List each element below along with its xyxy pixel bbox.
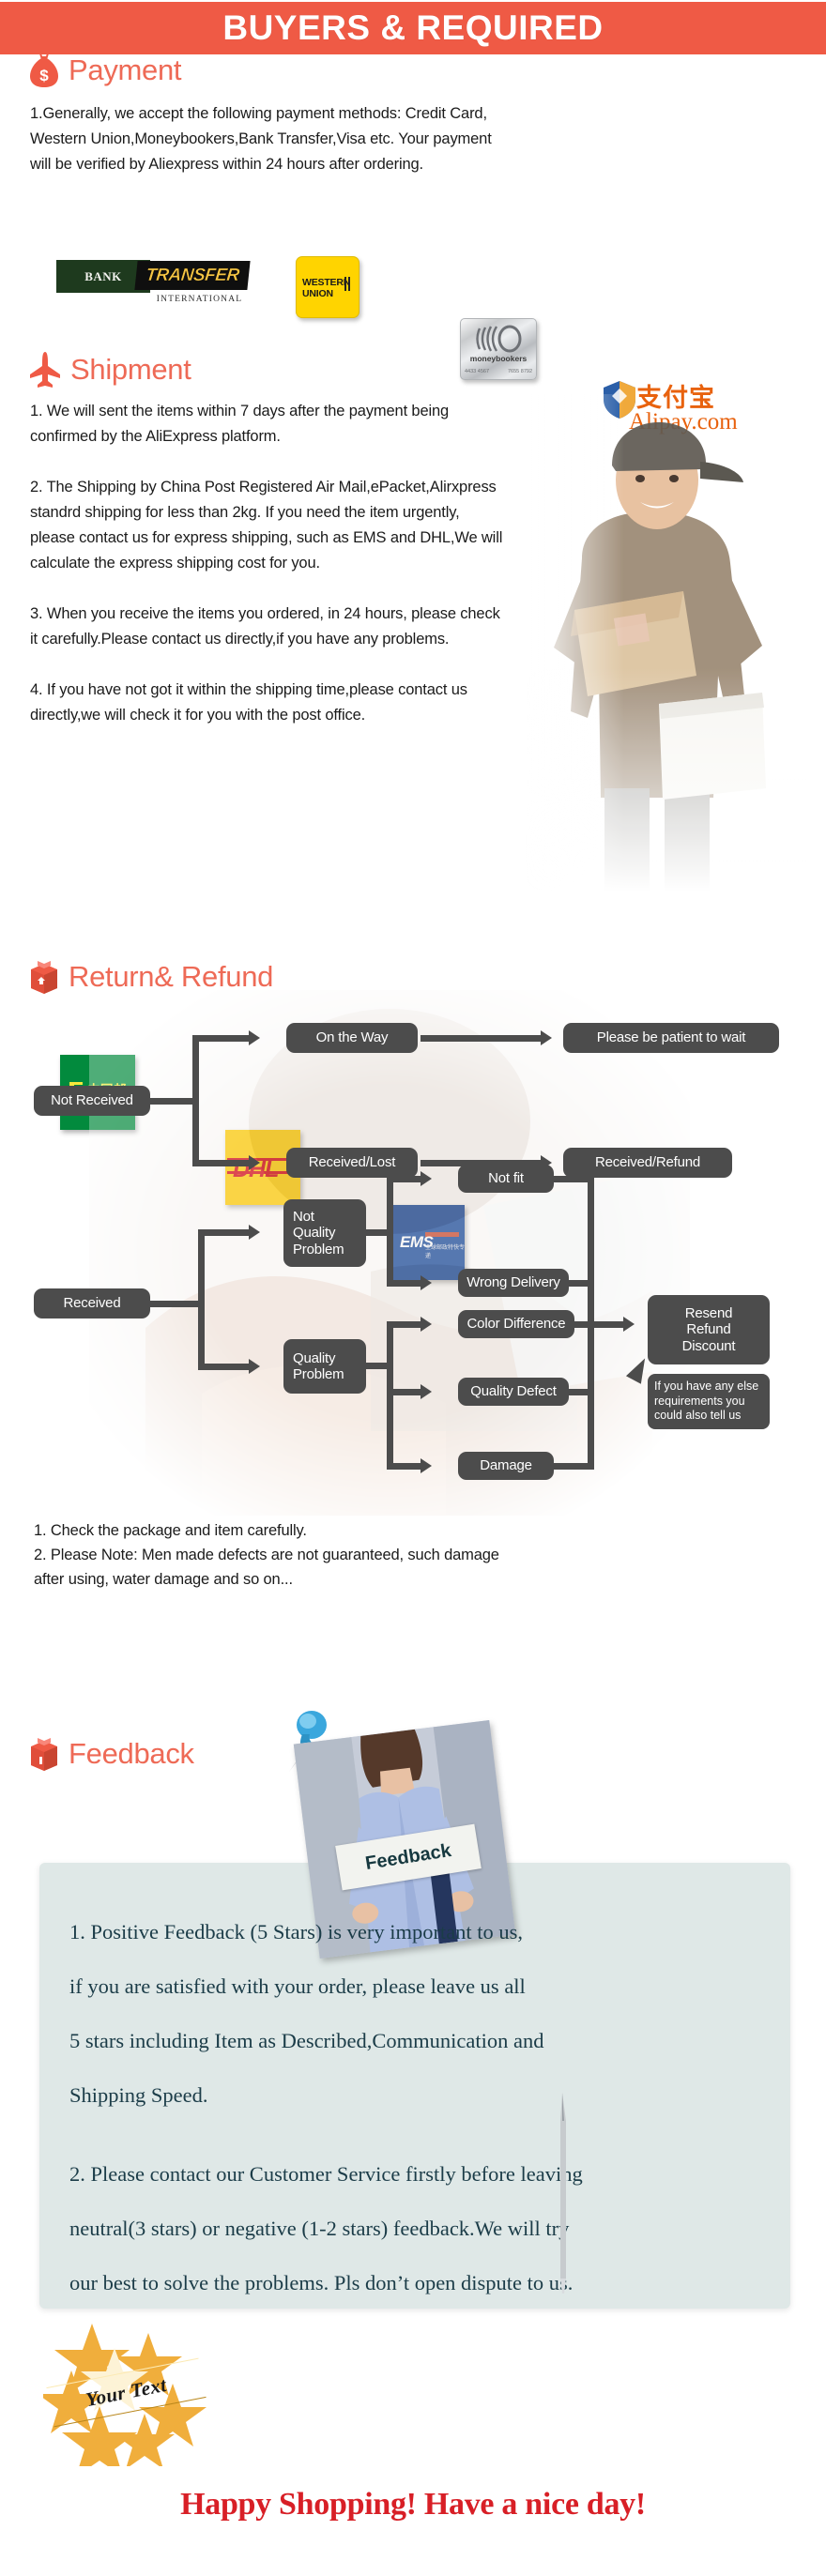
flow-node-please-wait: Please be patient to wait <box>563 1023 779 1053</box>
flow-line-received-vertical <box>198 1229 205 1370</box>
flow-arrow-nqp-wrongdelivery <box>421 1275 432 1290</box>
western-union-text: WESTERN UNION <box>302 278 350 299</box>
shipment-line-13: directly,we will check it for you with t… <box>30 703 800 728</box>
flow-line-ontheway-wait <box>421 1035 543 1042</box>
western-union-bar-right <box>344 277 346 291</box>
flow-line-received-trunk <box>150 1301 205 1307</box>
flow-node-received: Received <box>34 1288 150 1318</box>
section-title-feedback: Feedback <box>69 1737 194 1771</box>
payment-body: 1.Generally, we accept the following pay… <box>30 101 800 177</box>
section-title-payment: Payment <box>69 53 181 87</box>
flow-line-nqp-notfit <box>387 1176 422 1182</box>
flow-node-on-the-way: On the Way <box>286 1023 418 1053</box>
flow-line-qp-qualitydefect <box>387 1389 422 1395</box>
western-union-bar-left <box>348 277 350 291</box>
shipment-line-6: please contact us for express shipping, … <box>30 526 800 551</box>
section-heading-shipment: Shipment <box>28 352 191 388</box>
flow-line-notreceived-down <box>192 1160 251 1166</box>
payment-line-1: 1.Generally, we accept the following pay… <box>30 101 800 127</box>
moneybookers-wave-icon <box>461 323 537 355</box>
bank-transfer-word-plate: TRANSFER <box>134 261 250 290</box>
shipment-line-12: 4. If you have not got it within the shi… <box>30 678 800 703</box>
flow-callout: If you have any else requirements you co… <box>648 1374 770 1429</box>
return-notes: 1. Check the package and item carefully.… <box>34 1518 813 1592</box>
flow-node-not-received: Not Received <box>34 1086 150 1116</box>
western-union-logo: WESTERN UNION <box>296 256 359 318</box>
flow-arrow-notreceived-receivedlost <box>249 1155 260 1170</box>
flow-node-not-fit: Not fit <box>458 1165 554 1193</box>
return-note-2: 2. Please Note: Men made defects are not… <box>34 1543 813 1567</box>
airplane-icon <box>28 352 62 388</box>
flow-line-qp-vertical <box>387 1321 393 1470</box>
shipment-line-4: 2. The Shipping by China Post Registered… <box>30 475 800 500</box>
flow-line-received-down <box>198 1364 251 1370</box>
moneybookers-numbers: 4433 4567 7655 8792 <box>465 369 532 374</box>
western-union-line-1: WESTERN <box>302 278 350 289</box>
feedback-line-2: if you are satisfied with your order, pl… <box>69 1959 764 2014</box>
flow-node-resend-label: Resend Refund Discount <box>682 1305 736 1355</box>
bank-transfer-logo: BANK TRANSFER INTERNATIONAL <box>56 260 150 293</box>
shipment-body: 1. We will sent the items within 7 days … <box>30 399 800 728</box>
feedback-line-4: Shipping Speed. <box>69 2068 764 2123</box>
flow-arrow-received-notquality <box>249 1225 260 1240</box>
bank-transfer-sub: INTERNATIONAL <box>145 295 253 304</box>
shipment-gap-3 <box>30 652 800 678</box>
flow-arrow-notreceived-ontheway <box>249 1030 260 1045</box>
flow-arrow-ontheway-wait <box>541 1030 552 1045</box>
flow-arrow-qp-qualitydefect <box>421 1384 432 1399</box>
flow-node-wrong-delivery: Wrong Delivery <box>458 1269 569 1297</box>
section-title-return: Return& Refund <box>69 960 273 994</box>
shipment-line-1: 1. We will sent the items within 7 days … <box>30 399 800 424</box>
feedback-line-3: 5 stars including Item as Described,Comm… <box>69 2014 764 2068</box>
flow-node-received-refund: Received/Refund <box>563 1148 732 1178</box>
return-note-1: 1. Check the package and item carefully. <box>34 1518 813 1543</box>
section-heading-feedback: Feedback <box>28 1736 194 1772</box>
shipment-gap-1 <box>30 450 800 475</box>
shipment-gap-2 <box>30 576 800 602</box>
flow-node-quality-defect: Quality Defect <box>458 1378 569 1406</box>
shipment-line-10: it carefully.Please contact us directly,… <box>30 627 800 652</box>
feedback-line-7: neutral(3 stars) or negative (1-2 stars)… <box>69 2202 764 2256</box>
feedback-text: 1. Positive Feedback (5 Stars) is very i… <box>69 1905 764 2310</box>
pencil-icon <box>549 2093 577 2294</box>
flow-line-qp-colordiff <box>387 1321 422 1328</box>
flow-line-notreceived-up <box>192 1035 251 1042</box>
section-heading-payment: $ Payment <box>28 52 181 89</box>
banner-title: BUYERS & REQUIRED <box>222 8 603 48</box>
feedback-line-6: 2. Please contact our Customer Service f… <box>69 2147 764 2202</box>
closing-message: Happy Shopping! Have a nice day! <box>0 2487 826 2523</box>
flow-arrow-received-quality <box>249 1359 260 1374</box>
shipment-line-2: confirmed by the AliExpress platform. <box>30 424 800 450</box>
feedback-sign-label: Feedback <box>364 1839 453 1874</box>
your-text-badge: Your Text <box>43 2316 207 2466</box>
promo-page: BUYERS & REQUIRED $ Payment 1.Generally,… <box>0 0 826 2576</box>
flow-arrow-nqp-notfit <box>421 1171 432 1186</box>
flow-line-nqp-vertical <box>387 1176 393 1287</box>
bank-transfer-word: TRANSFER <box>145 266 240 286</box>
badge-label: Your Text <box>84 2373 168 2412</box>
payment-line-3: will be verified by Aliexpress within 24… <box>30 152 800 177</box>
feedback-line-8: our best to solve the problems. Pls don’… <box>69 2256 764 2310</box>
flow-node-damage: Damage <box>458 1452 554 1480</box>
svg-text:$: $ <box>39 67 49 84</box>
flow-node-color-difference: Color Difference <box>458 1310 574 1338</box>
feedback-line-1: 1. Positive Feedback (5 Stars) is very i… <box>69 1905 764 1959</box>
pencil-illustration <box>549 2093 577 2294</box>
flow-node-not-quality-problem-label: Not Quality Problem <box>293 1209 344 1258</box>
flow-node-quality-problem: Quality Problem <box>283 1339 366 1394</box>
flow-arrow-collector-resend <box>623 1317 635 1332</box>
flow-line-notreceived-vertical <box>192 1035 199 1166</box>
moneybookers-logo: moneybookers 4433 4567 7655 8792 <box>460 318 537 380</box>
moneybookers-number-right: 7655 8792 <box>508 369 532 374</box>
moneybookers-label: moneybookers <box>461 354 536 363</box>
flow-line-nqp-wrongdelivery <box>387 1280 422 1287</box>
flow-arrow-qp-damage <box>421 1458 432 1473</box>
section-title-shipment: Shipment <box>70 353 191 387</box>
western-union-line-2: UNION <box>302 289 350 300</box>
flow-line-collector-out <box>588 1321 627 1328</box>
flow-line-received-up <box>198 1229 251 1236</box>
moneybookers-number-left: 4433 4567 <box>465 369 489 374</box>
flow-arrow-qp-colordiff <box>421 1317 432 1332</box>
flow-node-received-lost: Received/Lost <box>286 1148 418 1178</box>
feedback-box-icon <box>28 1736 60 1772</box>
flow-line-qp-damage <box>387 1463 422 1470</box>
flow-node-quality-problem-label: Quality Problem <box>293 1350 344 1383</box>
flow-node-not-quality-problem: Not Quality Problem <box>283 1199 366 1267</box>
shipment-line-5: standrd shipping for less than 2kg. If y… <box>30 500 800 526</box>
feedback-gap <box>69 2123 764 2147</box>
return-flowchart: On the Way Please be patient to wait Not… <box>0 1023 826 1492</box>
shipment-line-9: 3. When you receive the items you ordere… <box>30 602 800 627</box>
return-note-3: after using, water damage and so on... <box>34 1567 813 1592</box>
bank-transfer-label: BANK <box>84 269 122 284</box>
flow-node-resend-refund-discount: Resend Refund Discount <box>648 1295 770 1364</box>
return-box-icon <box>28 959 60 995</box>
shipment-line-7: calculate the express shipping cost for … <box>30 551 800 576</box>
money-bag-icon: $ <box>28 52 60 89</box>
page-banner: BUYERS & REQUIRED <box>0 2 826 54</box>
payment-line-2: Western Union,Moneybookers,Bank Transfer… <box>30 127 800 152</box>
